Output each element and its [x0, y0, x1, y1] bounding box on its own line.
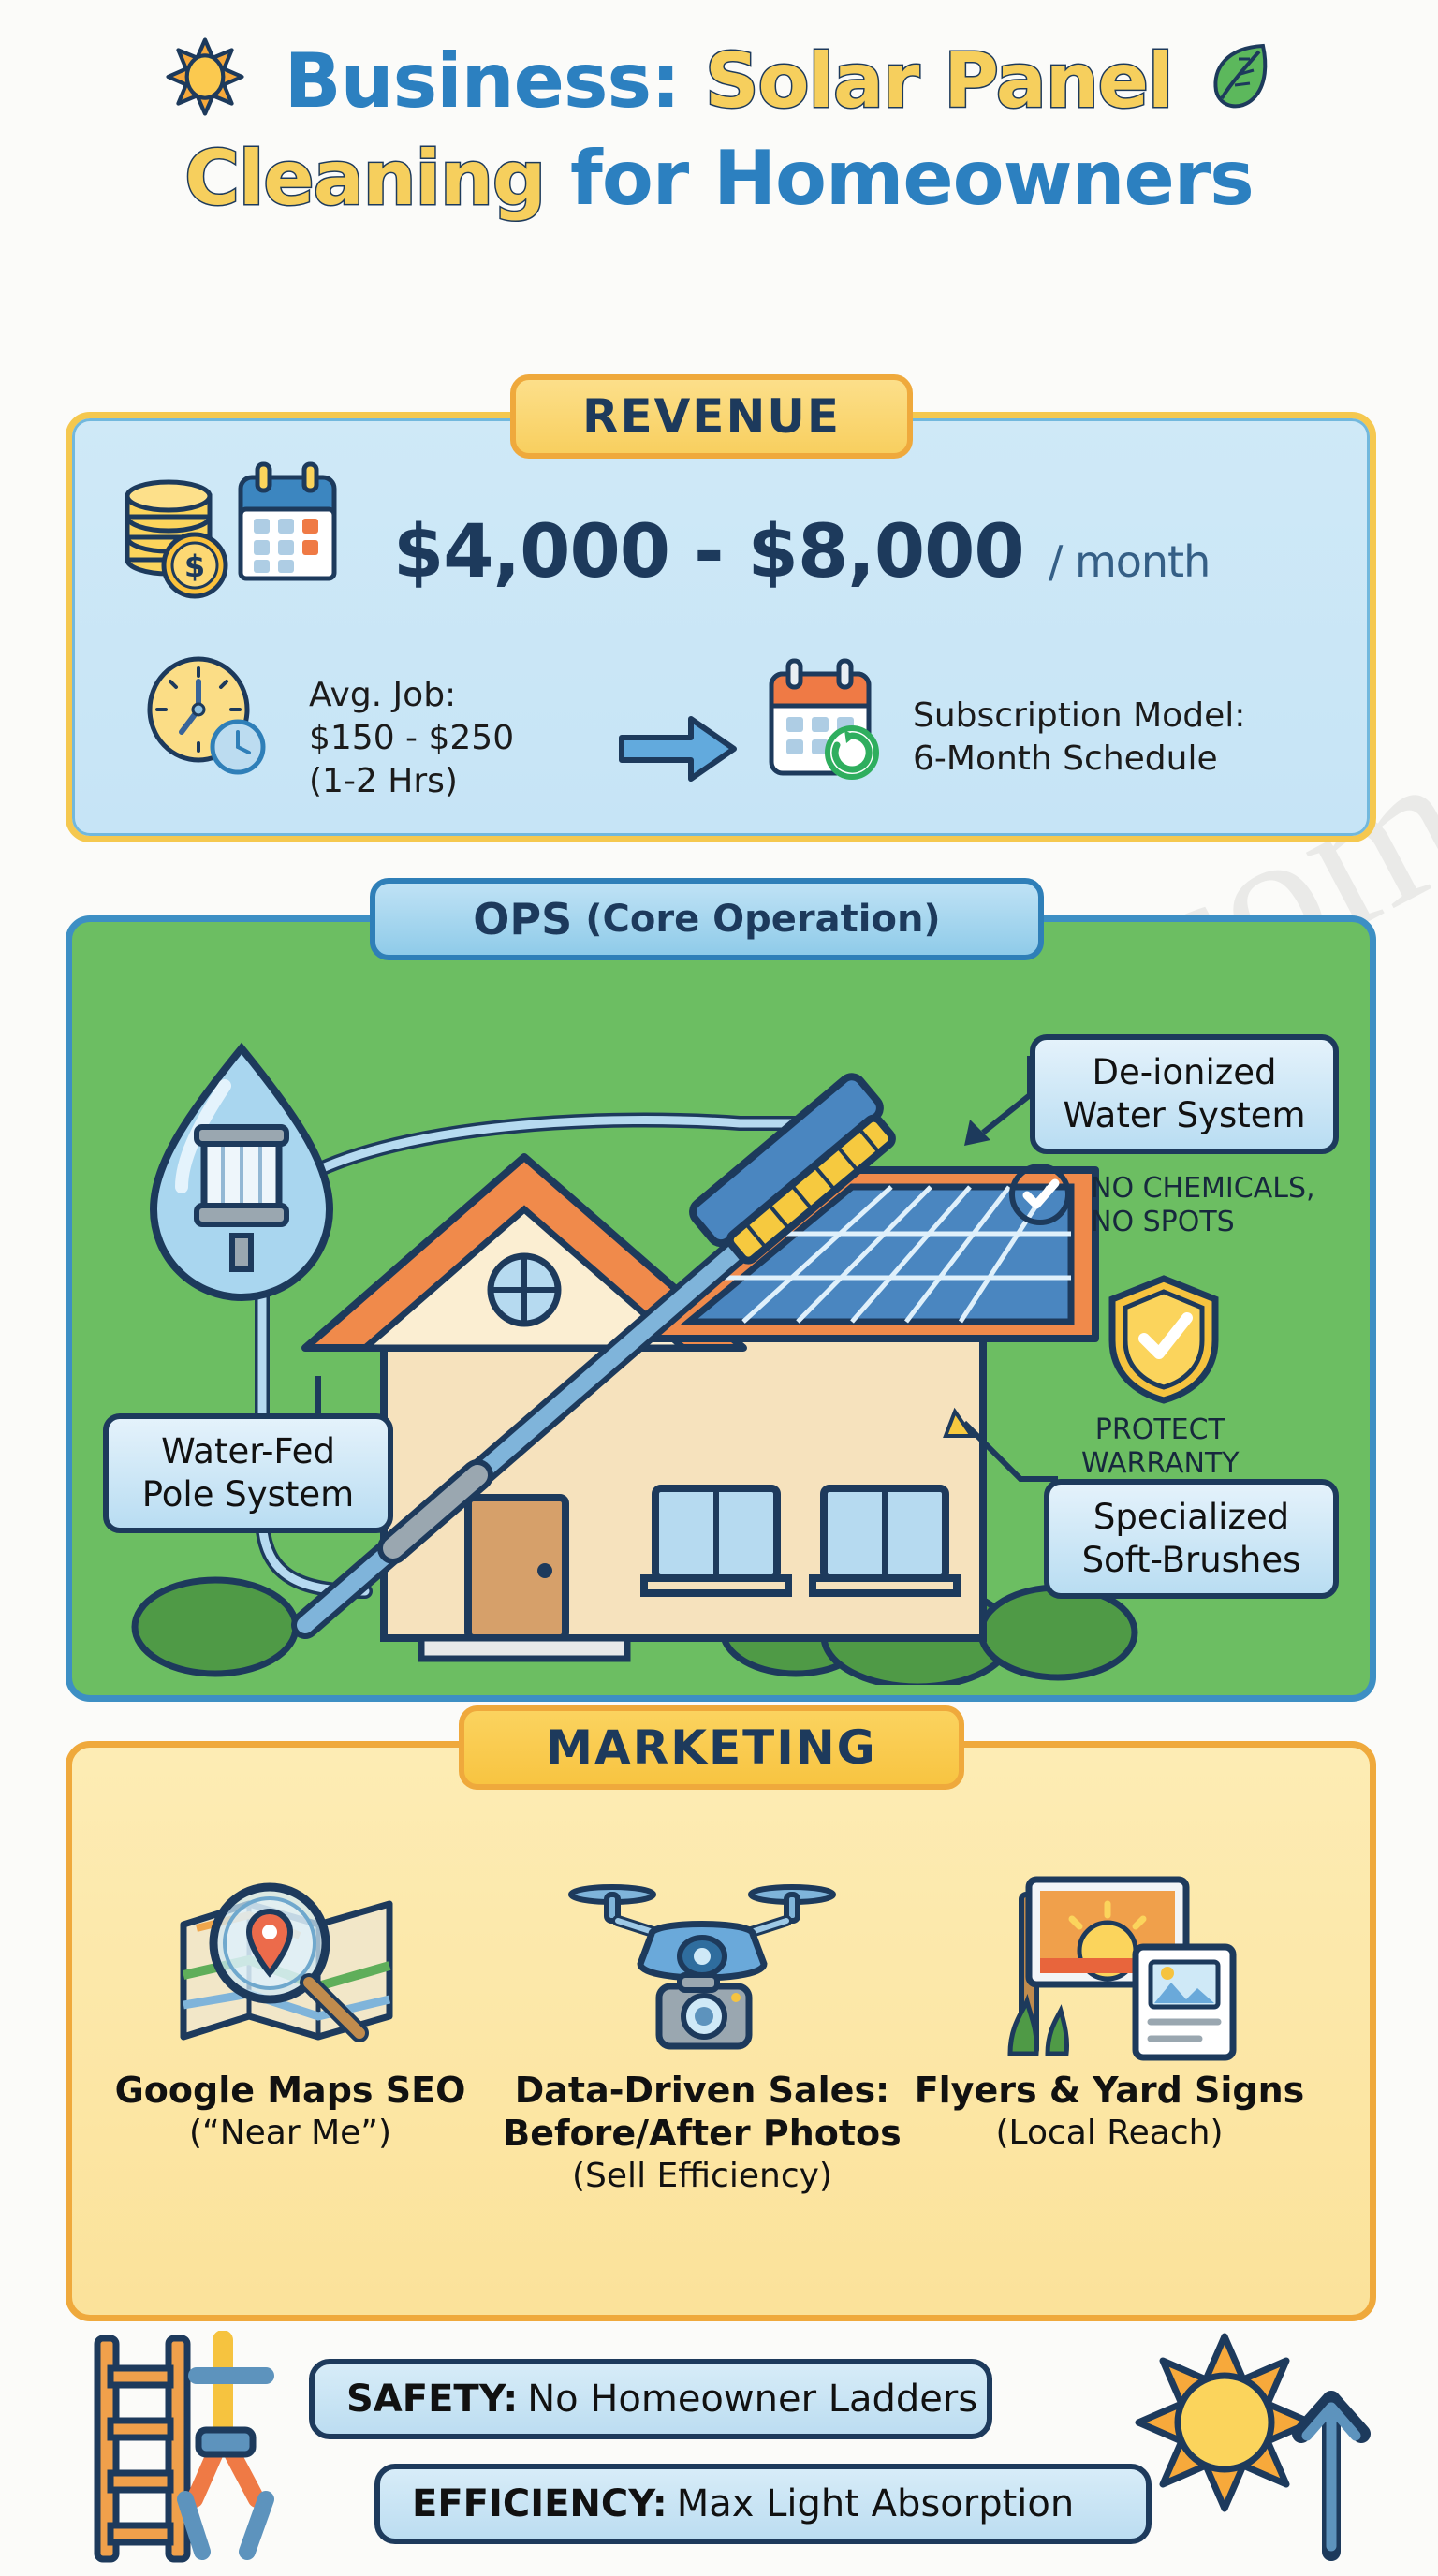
subscription-line2: 6-Month Schedule	[913, 738, 1245, 781]
sun-up-arrow-icon	[1114, 2321, 1376, 2565]
ops-label-deionized-water: De-ionized Water System	[1030, 1034, 1339, 1154]
infographic-page: ODockPack.com Business: Solar Panel Clea…	[0, 0, 1438, 2576]
marketing-title-photos-line1: Data-Driven Sales:	[496, 2069, 908, 2112]
revenue-subscription-text: Subscription Model: 6-Month Schedule	[913, 695, 1245, 781]
calendar-refresh-icon	[758, 655, 889, 791]
ops-label-soft-brushes: Specialized Soft-Brushes	[1044, 1479, 1339, 1599]
ops-label-water-fed-pole: Water-Fed Pole System	[103, 1413, 393, 1533]
no-chemicals-line2: NO SPOTS	[1091, 1206, 1315, 1239]
marketing-column-seo: Google Maps SEO (“Near Me”)	[84, 1853, 496, 2155]
header: Business: Solar Panel Cleaning for Homeo…	[0, 37, 1438, 271]
yard-sign-flyer-icon	[903, 1853, 1315, 2069]
efficiency-banner: EFFICIENCY: Max Light Absorption	[374, 2464, 1152, 2544]
ops-note-no-chemicals: NO CHEMICALS, NO SPOTS	[1091, 1172, 1315, 1239]
ladder-harness-icon	[82, 2331, 326, 2565]
marketing-subtitle-photos: (Sell Efficiency)	[496, 2155, 908, 2198]
marketing-title-seo: Google Maps SEO	[84, 2069, 496, 2112]
arrow-right-icon	[618, 711, 740, 791]
avg-job-line3: (1-2 Hrs)	[309, 760, 514, 803]
sun-icon	[166, 37, 244, 135]
map-magnifier-pin-icon	[84, 1853, 496, 2069]
ops-badge: OPS (Core Operation)	[370, 878, 1044, 960]
title-for-homeowners: for Homeowners	[570, 135, 1254, 222]
safety-text: No Homeowner Ladders	[527, 2378, 977, 2421]
title-solar-panel: Solar Panel	[705, 37, 1172, 124]
revenue-avg-job-text: Avg. Job: $150 - $250 (1-2 Hrs)	[309, 674, 514, 803]
efficiency-label: EFFICIENCY:	[412, 2482, 668, 2525]
subscription-line1: Subscription Model:	[913, 695, 1245, 738]
marketing-column-flyers: Flyers & Yard Signs (Local Reach)	[903, 1853, 1315, 2155]
avg-job-line2: $150 - $250	[309, 717, 514, 760]
title-cleaning: Cleaning	[184, 135, 545, 222]
revenue-badge: REVENUE	[510, 374, 913, 459]
efficiency-text: Max Light Absorption	[677, 2482, 1074, 2525]
revenue-amount-value: $4,000 - $8,000	[393, 510, 1024, 594]
warranty-line1: PROTECT	[1081, 1413, 1240, 1447]
drone-camera-icon	[496, 1853, 908, 2069]
shield-check-icon	[1103, 1273, 1225, 1404]
marketing-subtitle-flyers: (Local Reach)	[903, 2112, 1315, 2155]
title-line-1: Business: Solar Panel	[0, 37, 1438, 135]
safety-banner: SAFETY: No Homeowner Ladders	[309, 2359, 992, 2439]
marketing-title-flyers: Flyers & Yard Signs	[903, 2069, 1315, 2112]
ops-badge-sub: (Core Operation)	[585, 898, 940, 941]
avg-job-line1: Avg. Job:	[309, 674, 514, 717]
warranty-line2: WARRANTY	[1081, 1447, 1240, 1481]
revenue-amount-period: / month	[1049, 536, 1210, 587]
coins-stack-icon: $	[122, 468, 243, 604]
title-business: Business:	[285, 37, 680, 124]
leaf-icon	[1207, 40, 1272, 132]
ops-badge-main: OPS	[473, 894, 572, 944]
ops-note-protect-warranty: PROTECT WARRANTY	[1081, 1413, 1240, 1481]
svg-text:$: $	[184, 549, 205, 584]
safety-label: SAFETY:	[346, 2378, 518, 2421]
no-chemicals-line1: NO CHEMICALS,	[1091, 1172, 1315, 1206]
marketing-badge: MARKETING	[459, 1705, 964, 1790]
marketing-subtitle-seo: (“Near Me”)	[84, 2112, 496, 2155]
marketing-title-photos-line2: Before/After Photos	[496, 2112, 908, 2155]
calendar-icon	[229, 461, 346, 592]
clock-icon	[140, 655, 271, 782]
revenue-amount: $4,000 - $8,000 / month	[393, 510, 1210, 594]
title-line-2: Cleaning for Homeowners	[0, 135, 1438, 223]
check-circle-icon	[1006, 1161, 1074, 1228]
marketing-column-photos: Data-Driven Sales: Before/After Photos (…	[496, 1853, 908, 2198]
